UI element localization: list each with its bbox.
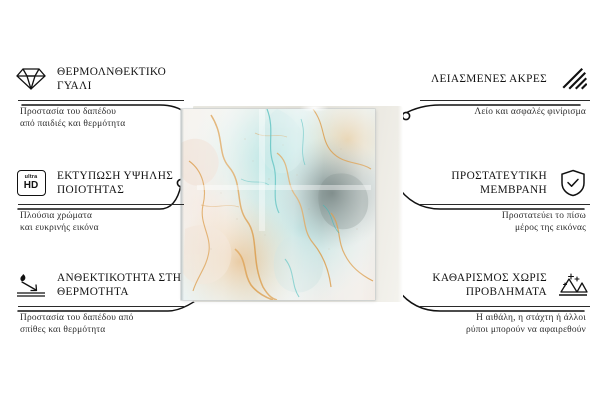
feature-title: ΕΚΤΥΠΩΣΗ ΥΨΗΛΗΣ ΠΟΙΟΤΗΤΑΣ	[57, 169, 200, 197]
feature-heat-resistant-glass: ΘΕΡΜΟΛΝΘΕΚΤΙΚΟ ΓΥΑΛΙ Προστασία του δαπέδ…	[14, 62, 200, 131]
polished-edges-icon	[556, 64, 590, 94]
feature-heat-resistance: ΑΝΘΕΚΤΙΚΟΤΗΤΑ ΣΤΗ ΘΕΡΜΟΤΗΤΑ Προστασία το…	[14, 268, 200, 337]
feature-high-quality-print: ultra HD ΕΚΤΥΠΩΣΗ ΥΨΗΛΗΣ ΠΟΙΟΤΗΤΑΣ Πλούσ…	[14, 166, 200, 235]
feature-header: ΛΕΙΑΣΜΕΝΕΣ ΑΚΡΕΣ	[404, 62, 590, 96]
feature-header: ΑΝΘΕΚΤΙΚΟΤΗΤΑ ΣΤΗ ΘΕΡΜΟΤΗΤΑ	[14, 268, 200, 302]
feature-description: Προστατεύει το πίσωμέρος της εικόνας	[404, 210, 590, 235]
feature-divider	[420, 204, 590, 205]
feature-title: ΘΕΡΜΟΛΝΘΕΚΤΙΚΟ ΓΥΑΛΙ	[57, 65, 200, 93]
feature-header: ultra HD ΕΚΤΥΠΩΣΗ ΥΨΗΛΗΣ ΠΟΙΟΤΗΤΑΣ	[14, 166, 200, 200]
feature-title: ΛΕΙΑΣΜΕΝΕΣ ΑΚΡΕΣ	[404, 72, 547, 86]
feature-title: ΑΝΘΕΚΤΙΚΟΤΗΤΑ ΣΤΗ ΘΕΡΜΟΤΗΤΑ	[57, 271, 200, 299]
feature-description: Η αιθάλη, η στάχτη ή άλλοιρύποι μπορούν …	[404, 312, 590, 337]
panel-artwork	[181, 109, 375, 300]
feature-description: Προστασία του δαπέδουαπό παιδιές και θερ…	[14, 106, 200, 131]
ultra-hd-large-label: HD	[24, 181, 38, 191]
feature-header: ΠΡΟΣΤΑΤΕΥΤΙΚΗ ΜΕΜΒΡΑΝΗ	[404, 166, 590, 200]
feature-header: ΚΑΘΑΡΙΣΜΟΣ ΧΩΡΙΣ ΠΡΟΒΛΗΜΑΤΑ	[404, 268, 590, 302]
product-feature-infographic: ΘΕΡΜΟΛΝΘΕΚΤΙΚΟ ΓΥΑΛΙ Προστασία του δαπέδ…	[0, 0, 600, 400]
feature-polished-edges: ΛΕΙΑΣΜΕΝΕΣ ΑΚΡΕΣ Λείο και ασφαλές φινίρι…	[404, 62, 590, 118]
feature-divider	[18, 306, 184, 307]
feature-easy-cleaning: ΚΑΘΑΡΙΣΜΟΣ ΧΩΡΙΣ ΠΡΟΒΛΗΜΑΤΑ Η αιθάλη, η …	[404, 268, 590, 337]
feature-description: Προστασία του δαπέδου απόσπίθες και θερμ…	[14, 312, 200, 337]
feature-divider	[420, 306, 590, 307]
feature-description: Λείο και ασφαλές φινίρισμα	[404, 106, 590, 118]
glass-top-highlight	[299, 104, 329, 112]
feature-divider	[18, 100, 184, 101]
diamond-icon	[14, 64, 48, 94]
feature-protective-membrane: ΠΡΟΣΤΑΤΕΥΤΙΚΗ ΜΕΜΒΡΑΝΗ Προστατεύει το πί…	[404, 166, 590, 235]
feature-header: ΘΕΡΜΟΛΝΘΕΚΤΙΚΟ ΓΥΑΛΙ	[14, 62, 200, 96]
feature-divider	[420, 100, 590, 101]
feature-divider	[18, 204, 184, 205]
feature-title: ΚΑΘΑΡΙΣΜΟΣ ΧΩΡΙΣ ΠΡΟΒΛΗΜΑΤΑ	[404, 271, 547, 299]
feature-title: ΠΡΟΣΤΑΤΕΥΤΙΚΗ ΜΕΜΒΡΑΝΗ	[404, 169, 547, 197]
product-image	[181, 106, 403, 302]
shield-check-icon	[556, 168, 590, 198]
ultra-hd-badge-icon: ultra HD	[14, 168, 48, 198]
heat-resistance-icon	[14, 270, 48, 300]
feature-description: Πλούσια χρώματακαι ευκρινής εικόνα	[14, 210, 200, 235]
easy-clean-sparkle-icon	[556, 270, 590, 300]
